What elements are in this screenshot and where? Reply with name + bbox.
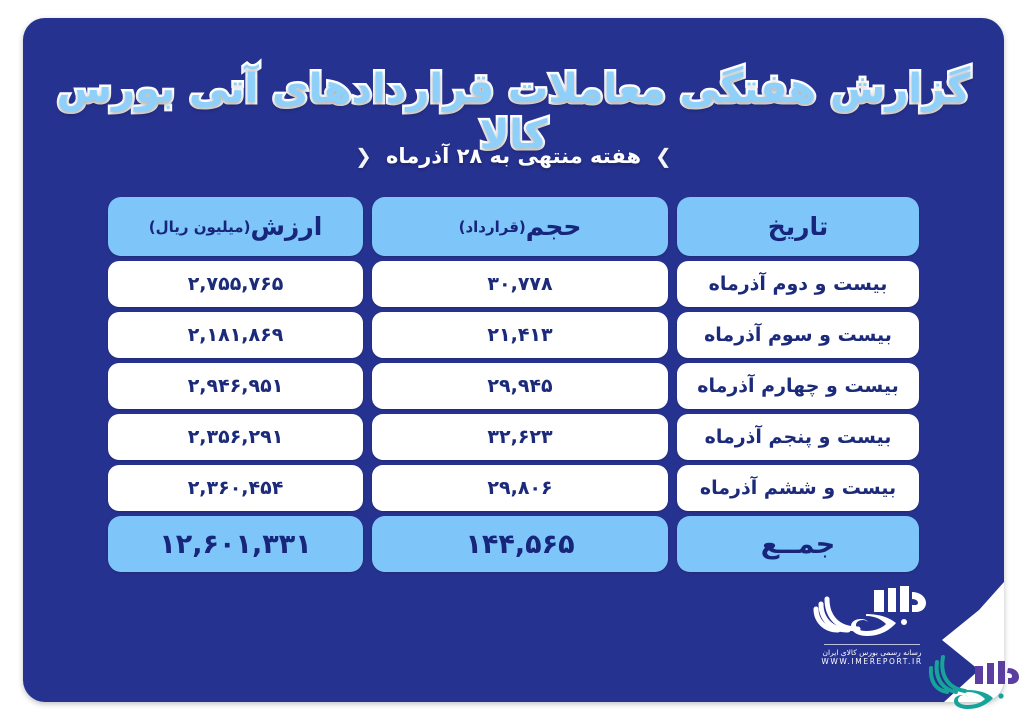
column-header-volume-unit: (قرارداد) <box>459 218 526 236</box>
table-row: بیست و پنجم آذرماه ۳۲,۶۲۳ ۲,۳۵۶,۲۹۱ <box>108 414 919 460</box>
chevron-left-icon: ❯ <box>655 146 672 166</box>
kalakhabar-watermark-icon <box>917 632 1021 718</box>
total-label: جمــع <box>677 516 919 572</box>
cell-volume: ۳۰,۷۷۸ <box>372 261 668 307</box>
logo-divider <box>824 644 920 645</box>
cell-volume: ۳۲,۶۲۳ <box>372 414 668 460</box>
table-header-row: تاریخ حجم (قرارداد) ارزش (میلیون ریال) <box>108 197 919 256</box>
cell-date: بیست و ششم آذرماه <box>677 465 919 511</box>
cell-value: ۲,۱۸۱,۸۶۹ <box>108 312 363 358</box>
cell-value: ۲,۳۵۶,۲۹۱ <box>108 414 363 460</box>
total-volume: ۱۴۴,۵۶۵ <box>372 516 668 572</box>
table-row: بیست و ششم آذرماه ۲۹,۸۰۶ ۲,۳۶۰,۴۵۴ <box>108 465 919 511</box>
subtitle-container: ❯ هفته منتهی به ۲۸ آذرماه ❮ <box>23 144 1004 168</box>
chevron-right-icon: ❮ <box>355 146 372 166</box>
total-value: ۱۲,۶۰۱,۳۳۱ <box>108 516 363 572</box>
column-header-value-unit: (میلیون ریال) <box>149 218 251 236</box>
column-header-date: تاریخ <box>677 197 919 256</box>
column-header-value: ارزش (میلیون ریال) <box>108 197 363 256</box>
table-row: بیست و دوم آذرماه ۳۰,۷۷۸ ۲,۷۵۵,۷۶۵ <box>108 261 919 307</box>
cell-date: بیست و پنجم آذرماه <box>677 414 919 460</box>
table-row: بیست و چهارم آذرماه ۲۹,۹۴۵ ۲,۹۴۶,۹۵۱ <box>108 363 919 409</box>
cell-value: ۲,۹۴۶,۹۵۱ <box>108 363 363 409</box>
weekly-futures-table: تاریخ حجم (قرارداد) ارزش (میلیون ریال) ب… <box>108 197 919 572</box>
column-header-value-label: ارزش <box>250 212 322 241</box>
table-total-row: جمــع ۱۴۴,۵۶۵ ۱۲,۶۰۱,۳۳۱ <box>108 516 919 572</box>
cell-date: بیست و چهارم آذرماه <box>677 363 919 409</box>
column-header-volume-label: حجم <box>526 212 582 241</box>
table-row: بیست و سوم آذرماه ۲۱,۴۱۳ ۲,۱۸۱,۸۶۹ <box>108 312 919 358</box>
subtitle-text: هفته منتهی به ۲۸ آذرماه <box>386 144 641 168</box>
cell-date: بیست و دوم آذرماه <box>677 261 919 307</box>
cell-volume: ۲۱,۴۱۳ <box>372 312 668 358</box>
report-card: گزارش هفتگی معاملات قراردادهای آتی بورس … <box>23 18 1004 702</box>
cell-volume: ۲۹,۹۴۵ <box>372 363 668 409</box>
cell-value: ۲,۷۵۵,۷۶۵ <box>108 261 363 307</box>
subtitle: ❯ هفته منتهی به ۲۸ آذرماه ❮ <box>355 144 672 168</box>
column-header-date-label: تاریخ <box>768 212 829 241</box>
cell-value: ۲,۳۶۰,۴۵۴ <box>108 465 363 511</box>
cell-date: بیست و سوم آذرماه <box>677 312 919 358</box>
column-header-volume: حجم (قرارداد) <box>372 197 668 256</box>
cell-volume: ۲۹,۸۰۶ <box>372 465 668 511</box>
